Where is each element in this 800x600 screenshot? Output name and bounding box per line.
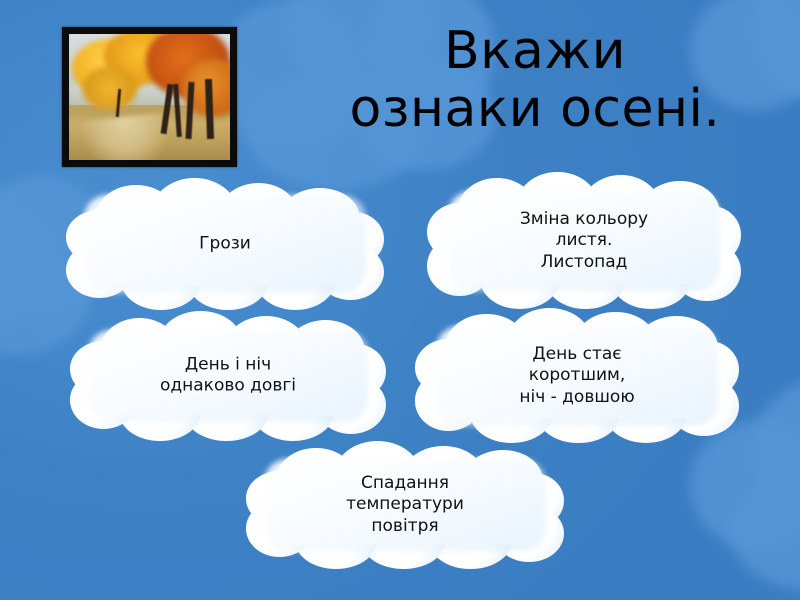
cloud-callout-temp-drop[interactable]: Спадання температури повітря	[252, 448, 558, 562]
photo-path	[83, 113, 172, 160]
cloud-label-equal-daynight: День і ніч однаково довгі	[76, 355, 380, 398]
cloud-callout-leaf-color[interactable]: Зміна кольору листя. Листопад	[436, 178, 732, 304]
autumn-photo-frame	[62, 27, 237, 167]
cloud-callout-shorter-day[interactable]: День стає коротшим, ніч - довшою	[424, 314, 730, 438]
cloud-label-leaf-color: Зміна кольору листя. Листопад	[436, 209, 732, 273]
cloud-label-temp-drop: Спадання температури повітря	[252, 473, 558, 537]
photo-foliage	[82, 67, 137, 110]
cloud-label-thunderstorms: Грози	[72, 233, 378, 254]
slide-title: Вкажи ознаки осені.	[300, 22, 770, 138]
cloud-label-shorter-day: День стає коротшим, ніч - довшою	[424, 344, 730, 408]
slide-canvas: Вкажи ознаки осені. Грози	[0, 0, 800, 600]
cloud-callout-thunderstorms[interactable]: Грози	[72, 183, 378, 305]
autumn-landscape-photo	[69, 34, 230, 160]
cloud-callout-equal-daynight[interactable]: День і ніч однаково довгі	[76, 318, 380, 434]
